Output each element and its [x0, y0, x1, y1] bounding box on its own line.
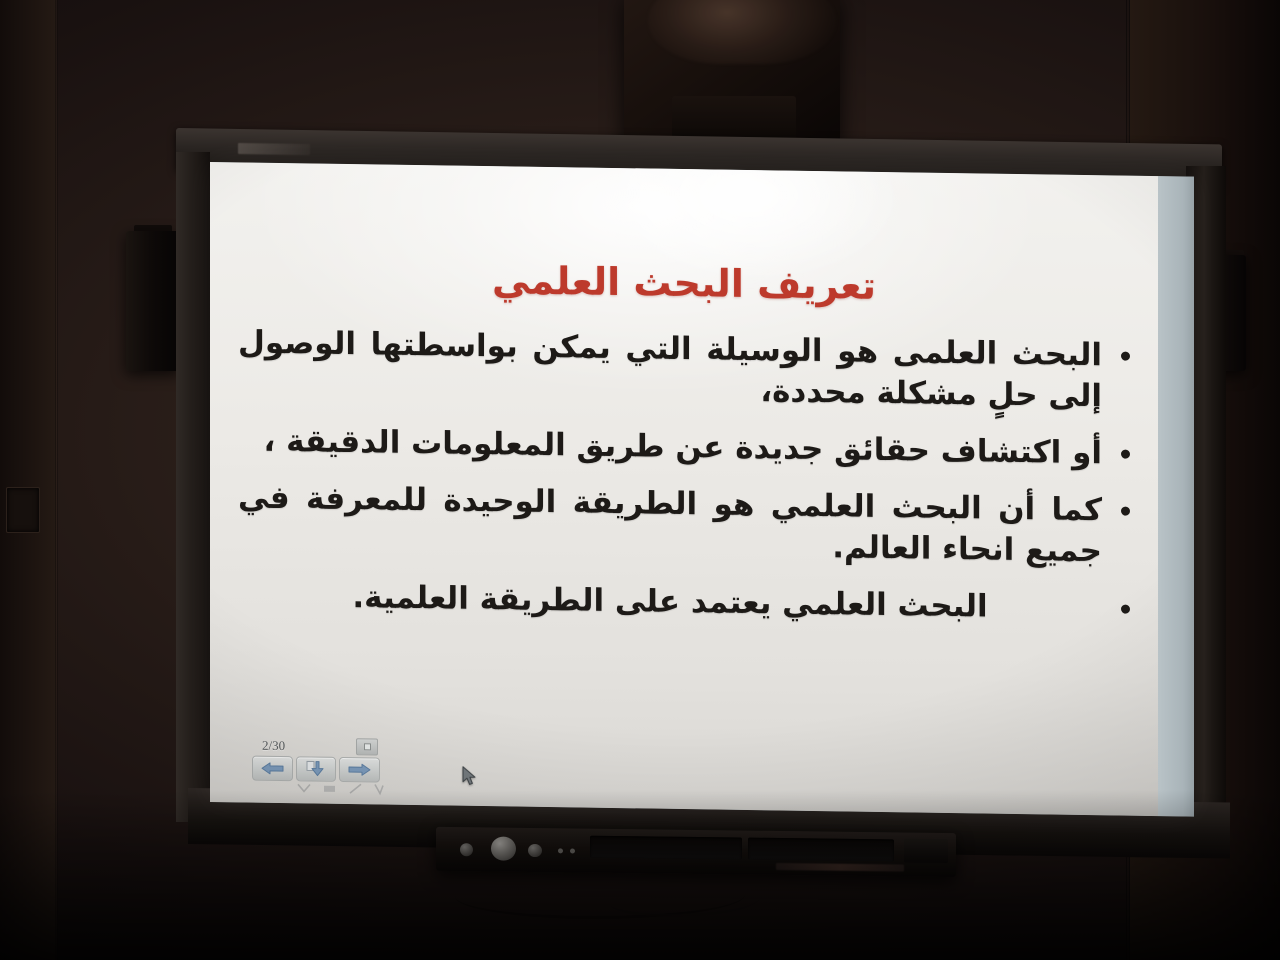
slide-bullet-1: البحث العلمى هو الوسيلة التي يمكن بواسطت…	[238, 322, 1136, 417]
bullet-dot-icon	[1121, 449, 1130, 458]
ceiling-projector	[648, 0, 836, 64]
arrow-right-icon	[348, 763, 371, 776]
room-background: تعريف البحث العلمي البحث العلمى هو الوسي…	[0, 0, 1280, 960]
slide-bullet-2-text: أو اكتشاف حقائق جديدة عن طريق المعلومات …	[264, 423, 1102, 471]
slide-bullet-3-text: كما أن البحث العلمي هو الطريقة الوحيدة ل…	[238, 479, 1102, 569]
slide-bullet-4-text: البحث العلمي يعتمد على الطريقة العلمية.	[352, 579, 987, 624]
slide-counter-row: 2/30	[252, 737, 380, 758]
slide-bullet-2: أو اكتشاف حقائق جديدة عن طريق المعلومات …	[238, 420, 1136, 474]
board-bezel-left	[176, 152, 210, 822]
slide-bullet-3: كما أن البحث العلمي هو الطريقة الوحيدة ل…	[238, 477, 1136, 572]
projector-inactive-margin	[1158, 176, 1194, 817]
slide-bullet-4: البحث العلمي يعتمد على الطريقة العلمية.	[238, 575, 1136, 629]
arrow-left-icon	[261, 762, 284, 775]
floor-shadow	[0, 790, 1280, 960]
left-speaker	[126, 231, 180, 371]
bullet-dot-icon	[1121, 604, 1130, 613]
expand-square-icon	[364, 743, 371, 750]
slide-bullet-1-text: البحث العلمى هو الوسيلة التي يمكن بواسطت…	[238, 324, 1102, 414]
presentation-slide[interactable]: تعريف البحث العلمي البحث العلمى هو الوسي…	[210, 162, 1158, 816]
bullet-dot-icon	[1121, 506, 1130, 515]
slide-bullet-list: البحث العلمى هو الوسيلة التي يمكن بواسطت…	[238, 322, 1136, 645]
wall-outlet	[6, 487, 40, 533]
board-brand-logo	[238, 143, 310, 155]
bullet-dot-icon	[1121, 352, 1130, 361]
mouse-pointer	[462, 766, 477, 791]
projection-screen[interactable]: تعريف البحث العلمي البحث العلمى هو الوسي…	[210, 162, 1194, 817]
cursor-arrow-icon	[462, 766, 477, 787]
interactive-whiteboard[interactable]: تعريف البحث العلمي البحث العلمى هو الوسي…	[176, 128, 1222, 828]
expand-toolbar-button[interactable]	[356, 738, 378, 755]
slide-title: تعريف البحث العلمي	[210, 254, 1158, 312]
slide-counter: 2/30	[262, 737, 285, 753]
